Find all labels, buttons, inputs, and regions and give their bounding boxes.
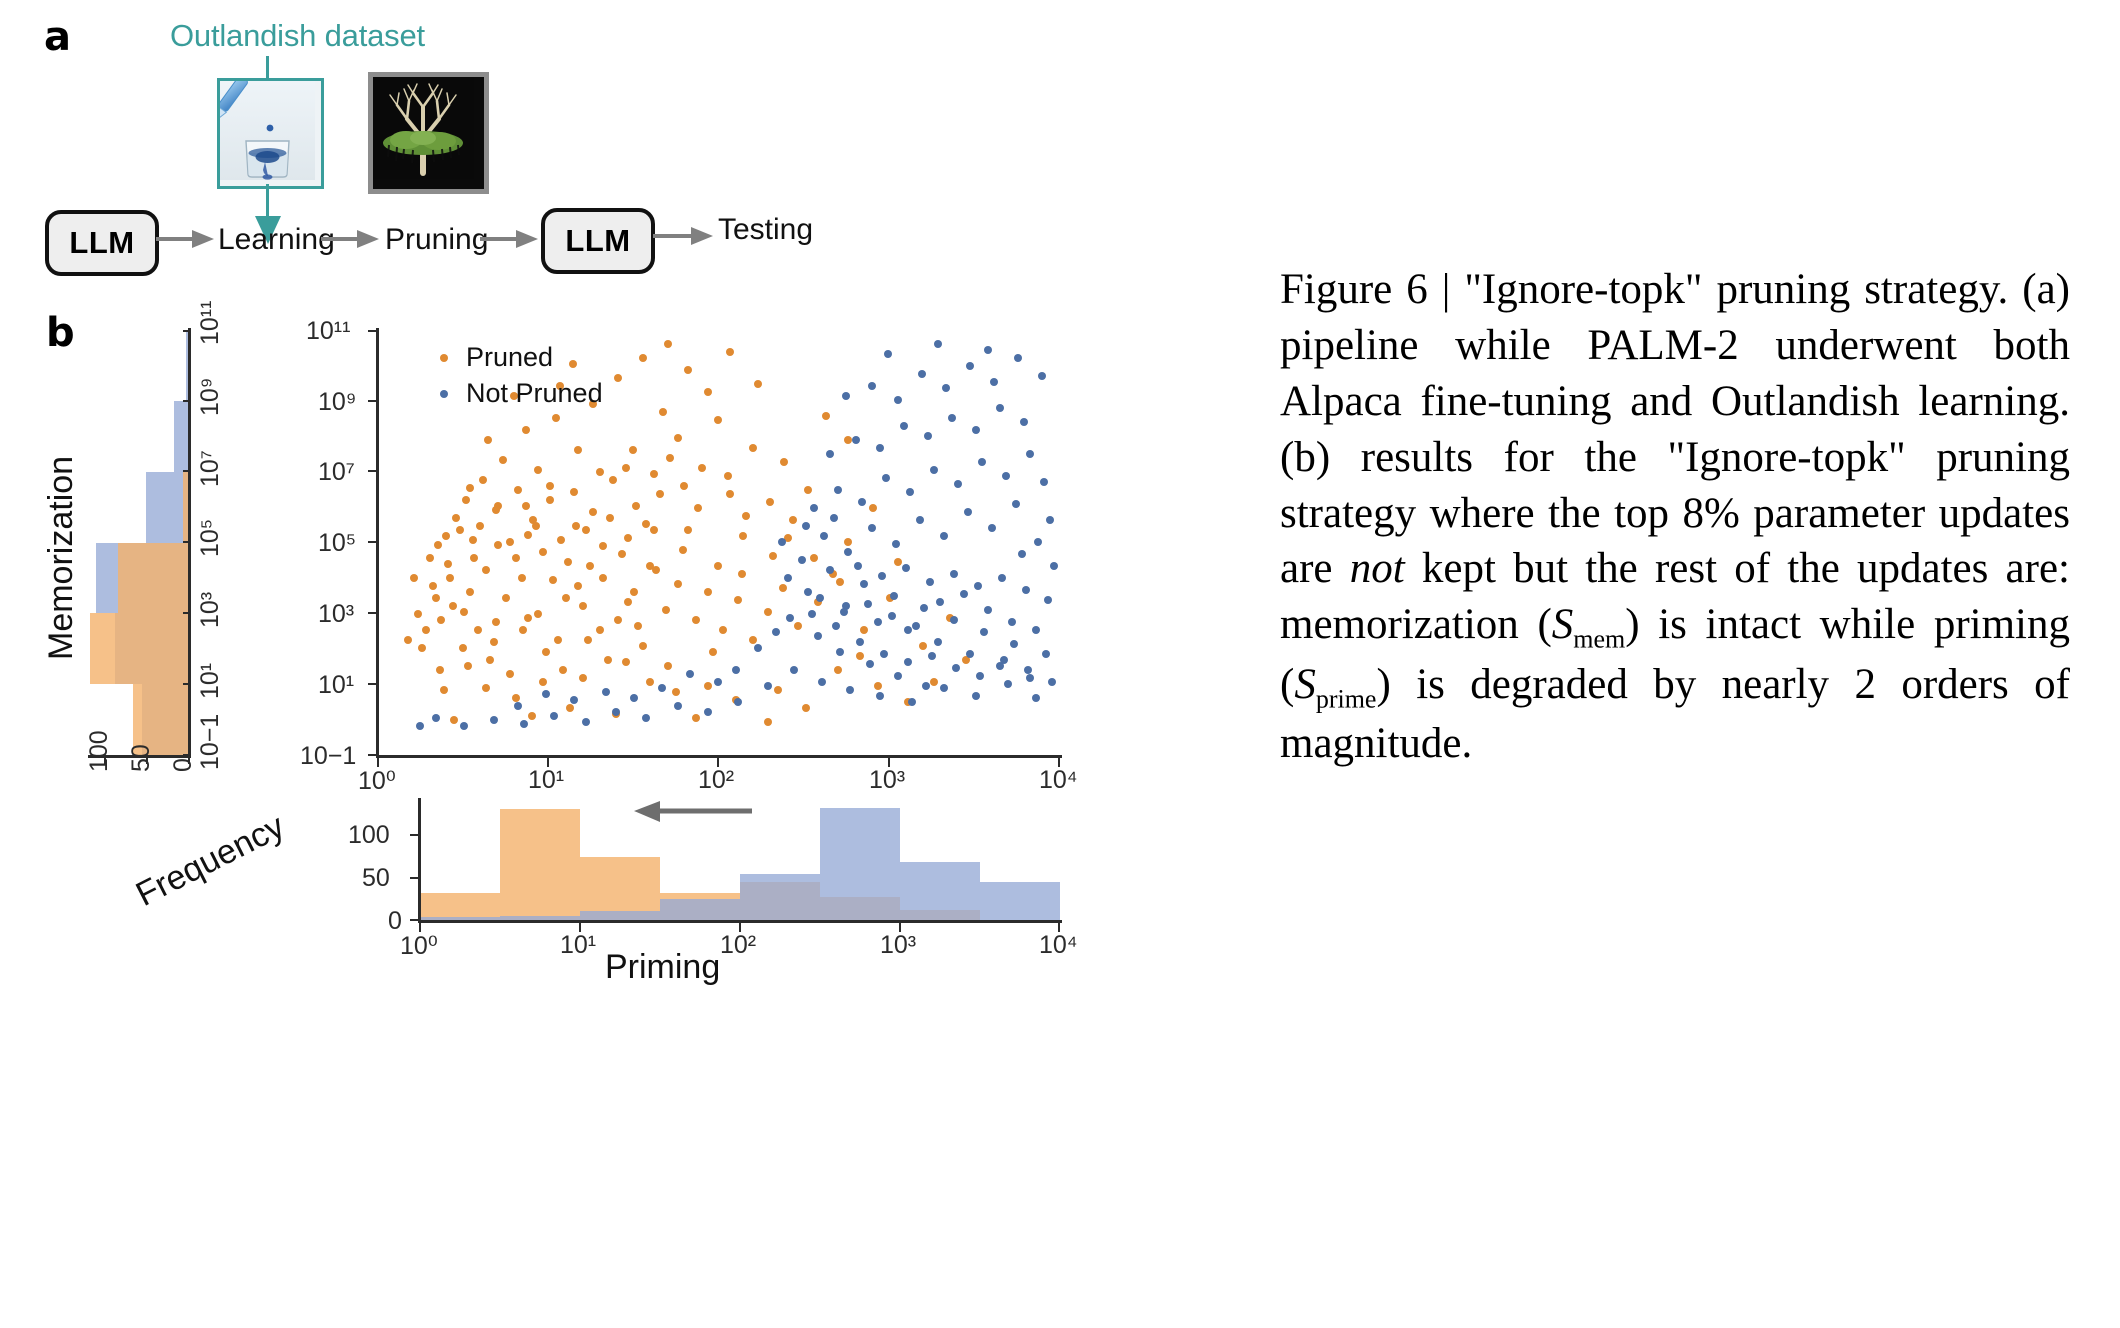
left-hist-tick-label: 50 [127, 744, 156, 772]
memorization-tick-label: 10⁵ [196, 519, 225, 557]
scatter-y-tick-label: 10¹ [318, 671, 354, 700]
priming-hist-x-tick-label: 10⁴ [1039, 931, 1078, 960]
scatter-y-tick-label: 10⁹ [318, 388, 357, 417]
legend-item-not-pruned: Not Pruned [440, 378, 603, 409]
memorization-tick [183, 541, 191, 543]
priming-bar-blue [900, 862, 980, 920]
priming-bar-orange [420, 893, 500, 920]
scatter-y-tick-label: 10³ [318, 600, 354, 629]
llm-box-right: LLM [541, 208, 655, 274]
llm-box-left-label: LLM [69, 225, 134, 261]
scatter-x-tick-label: 10² [698, 766, 734, 795]
memorization-tick-label: 10⁹ [196, 377, 225, 416]
scatter-x-axis [376, 755, 1062, 758]
llm-box-left: LLM [45, 210, 159, 276]
memorization-tick-label: 10¹ [196, 663, 225, 699]
priming-bar-blue [740, 874, 820, 920]
arrow-llm-to-testing [653, 225, 715, 247]
priming-hist-x-tick-label: 10² [720, 931, 756, 960]
caption-symbol-s-mem: S [1552, 601, 1574, 648]
priming-bar-blue [660, 899, 740, 920]
legend-item-pruned: Pruned [440, 342, 553, 373]
priming-hist-x-tick-label: 10¹ [560, 931, 596, 960]
memorization-tick-label: 10¹¹ [196, 301, 225, 345]
hist-bar-orange [118, 543, 188, 614]
memorization-tick-label: 10³ [196, 592, 225, 628]
priming-hist-x-tick-label: 10³ [880, 931, 916, 960]
scatter-y-tick [368, 330, 377, 332]
hist-bar-blue [146, 472, 188, 543]
scatter-y-tick [368, 541, 377, 543]
priming-hist-y-axis [418, 798, 421, 922]
priming-bar-orange [500, 809, 580, 920]
scatter-y-tick-label: 10⁵ [318, 529, 356, 558]
memorization-tick [183, 470, 191, 472]
scatter-x-tick-label: 10³ [869, 766, 905, 795]
caption-subscript-prime: prime [1316, 684, 1377, 713]
left-hist-tick-label: 0 [169, 758, 198, 772]
panel-b: b 100 50 0 10−1 10¹ 10³ 10⁵ 10⁷ 10⁹ 10¹¹… [0, 400, 1180, 1328]
memorization-tick [183, 683, 191, 685]
scatter-y-tick [368, 470, 377, 472]
dataset-label: Outlandish dataset [170, 18, 425, 54]
scatter-x-tick-label: 10⁰ [358, 766, 396, 796]
legend-label-pruned: Pruned [466, 342, 553, 373]
memorization-tick [183, 400, 191, 402]
caption-subscript-mem: mem [1573, 625, 1625, 654]
priming-hist-x-tick-label: 10⁰ [400, 931, 438, 961]
memorization-tick-label: 10−1 [196, 714, 225, 770]
scatter-y-tick [368, 683, 377, 685]
caption-segment-4: ) is degraded by nearly 2 orders of magn… [1280, 661, 2070, 767]
tree-svg [373, 77, 474, 179]
caption-segment-1: Figure 6 | "Ignore-topk" pruning strateg… [1280, 266, 2070, 592]
hist-bar-orange [90, 613, 188, 684]
priming-axis-title: Priming [605, 948, 720, 987]
panel-a-letter: a [44, 14, 71, 60]
priming-hist-y-tick [410, 834, 419, 836]
hist-bar-blue [174, 401, 188, 472]
figure-caption: Figure 6 | "Ignore-topk" pruning strateg… [1280, 262, 2070, 772]
priming-hist-y-tick [410, 877, 419, 879]
arrow-llm-to-learning [156, 228, 216, 250]
panel-b-letter: b [46, 310, 75, 356]
flow-label-testing: Testing [718, 213, 813, 247]
leftward-shift-arrow-icon [630, 798, 760, 828]
scatter-y-tick-label: 10¹¹ [306, 317, 350, 346]
memorization-tick [183, 754, 191, 756]
pipette-beaker-image [217, 78, 324, 189]
scatter-y-axis [376, 328, 379, 758]
caption-italic-not: not [1350, 545, 1405, 592]
pipette-beaker-svg [220, 81, 315, 180]
legend-dot-pruned [440, 354, 448, 362]
priming-hist-y-tick [410, 919, 419, 921]
memorization-marginal-histogram [88, 330, 188, 755]
scatter-x-tick-label: 10¹ [528, 766, 564, 795]
llm-box-right-label: LLM [565, 223, 630, 259]
memorization-tick-label: 10⁷ [196, 450, 225, 487]
scatter-y-tick-label: 10⁷ [318, 458, 355, 487]
left-hist-tick-label: 100 [85, 730, 114, 772]
legend-label-not-pruned: Not Pruned [466, 378, 603, 409]
flow-label-learning: Learning [218, 223, 335, 257]
priming-bar-blue [580, 911, 660, 920]
legend-dot-not-pruned [440, 390, 448, 398]
scatter-y-tick [368, 612, 377, 614]
caption-symbol-s-prime: S [1294, 661, 1316, 708]
priming-bar-blue [980, 882, 1060, 920]
memorization-tick [183, 330, 191, 332]
priming-hist-y-tick-label: 50 [362, 864, 390, 893]
flow-label-pruning: Pruning [385, 223, 488, 257]
frequency-axis-title: Frequency [130, 807, 291, 915]
tree-image [368, 72, 489, 194]
scatter-y-tick [368, 400, 377, 402]
memorization-tick [183, 612, 191, 614]
scatter-y-tick-label: 10−1 [300, 742, 356, 771]
priming-hist-y-tick-label: 100 [348, 821, 390, 850]
teal-connector-top [266, 56, 269, 78]
arrow-learning-to-pruning [321, 228, 381, 250]
memorization-axis-title: Memorization [42, 456, 81, 660]
scatter-x-tick-label: 10⁴ [1039, 766, 1078, 795]
arrow-pruning-to-llm [480, 228, 540, 250]
scatter-y-tick [368, 754, 377, 756]
priming-bar-blue [820, 808, 900, 920]
